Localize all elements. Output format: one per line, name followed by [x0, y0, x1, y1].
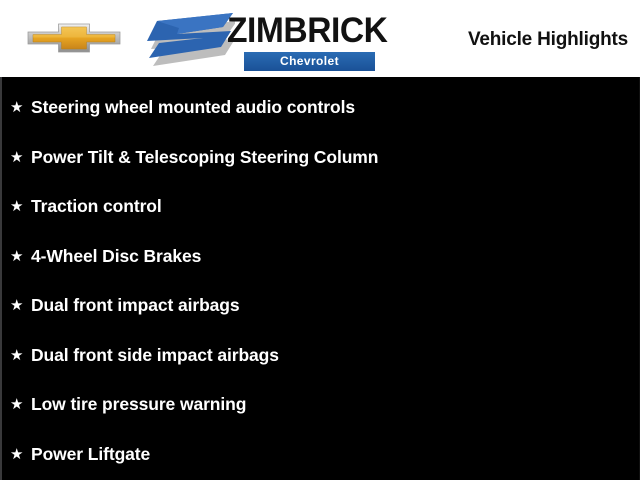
star-bullet-icon: ★ — [10, 150, 31, 165]
list-item: ★ Power Liftgate — [2, 430, 639, 480]
highlights-panel: ★ Steering wheel mounted audio controls … — [0, 77, 640, 480]
list-item: ★ Steering wheel mounted audio controls — [2, 83, 639, 133]
vehicle-highlights-slide: ZIMBRICK Chevrolet Vehicle Highlights ★ … — [0, 0, 640, 480]
zimbrick-wordmark: ZIMBRICK — [227, 12, 387, 50]
list-item-label: Dual front impact airbags — [31, 295, 240, 316]
zimbrick-dealer-logo: ZIMBRICK Chevrolet — [143, 9, 375, 71]
list-item: ★ Low tire pressure warning — [2, 380, 639, 430]
vehicle-highlights-list: ★ Steering wheel mounted audio controls … — [2, 77, 639, 479]
zimbrick-chevrolet-bar-label: Chevrolet — [244, 52, 375, 71]
star-bullet-icon: ★ — [10, 447, 31, 462]
list-item: ★ Traction control — [2, 182, 639, 232]
list-item-label: Dual front side impact airbags — [31, 345, 279, 366]
slide-header: ZIMBRICK Chevrolet Vehicle Highlights — [0, 0, 640, 77]
star-bullet-icon: ★ — [10, 348, 31, 363]
list-item: ★ 4-Wheel Disc Brakes — [2, 232, 639, 282]
star-bullet-icon: ★ — [10, 249, 31, 264]
list-item-label: 4-Wheel Disc Brakes — [31, 246, 201, 267]
list-item-label: Low tire pressure warning — [31, 394, 246, 415]
zimbrick-chevrolet-bar: Chevrolet — [244, 52, 375, 71]
star-bullet-icon: ★ — [10, 100, 31, 115]
list-item: ★ Dual front side impact airbags — [2, 331, 639, 381]
zimbrick-z-monogram-icon — [143, 13, 235, 71]
list-item-label: Traction control — [31, 196, 162, 217]
star-bullet-icon: ★ — [10, 298, 31, 313]
list-item-label: Power Liftgate — [31, 444, 150, 465]
star-bullet-icon: ★ — [10, 397, 31, 412]
list-item: ★ Dual front impact airbags — [2, 281, 639, 331]
star-bullet-icon: ★ — [10, 199, 31, 214]
list-item: ★ Power Tilt & Telescoping Steering Colu… — [2, 133, 639, 183]
list-item-label: Steering wheel mounted audio controls — [31, 97, 355, 118]
list-item-label: Power Tilt & Telescoping Steering Column — [31, 147, 378, 168]
page-title: Vehicle Highlights — [468, 29, 628, 51]
chevrolet-bowtie-icon — [27, 21, 121, 55]
